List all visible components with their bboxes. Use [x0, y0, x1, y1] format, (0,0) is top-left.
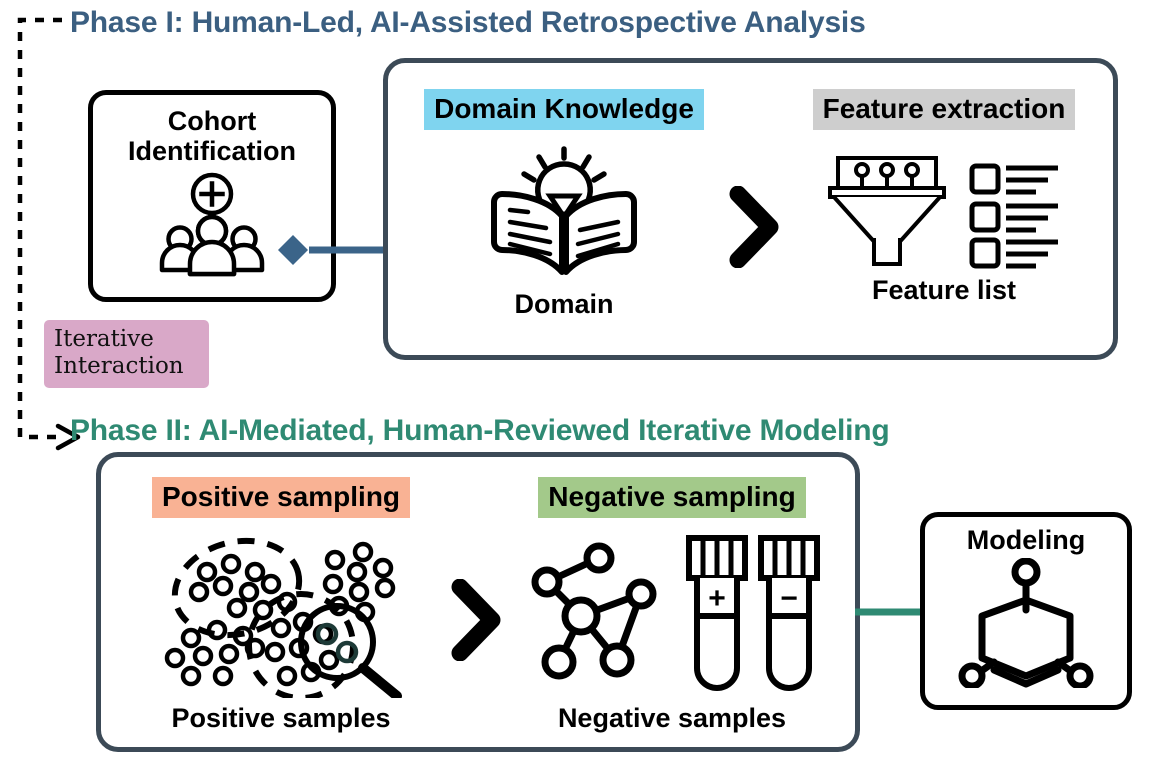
positive-tube-label: +	[708, 582, 726, 615]
positive-samples-caption: Positive samples	[121, 703, 441, 734]
negative-tube-label: −	[780, 582, 798, 615]
modeling-card[interactable]: Modeling	[920, 512, 1132, 710]
positive-sampling-step[interactable]: Positive sampling	[121, 477, 441, 734]
cohort-card-title: Cohort Identification	[93, 107, 331, 166]
diagram-canvas: Phase I: Human-Led, AI-Assisted Retrospe…	[0, 0, 1159, 768]
positive-sampling-chip: Positive sampling	[152, 477, 410, 518]
negative-samples-caption: Negative samples	[507, 703, 837, 734]
open-book-lightbulb-icon	[484, 144, 644, 284]
domain-knowledge-step[interactable]: Domain Knowledge	[414, 89, 714, 320]
iterative-label-line1: Iterative	[54, 326, 199, 353]
phase1-connector-line	[275, 232, 390, 268]
network-test-tubes-icon: + −	[517, 530, 827, 698]
feature-list-caption: Feature list	[794, 275, 1094, 306]
feature-extraction-chip: Feature extraction	[813, 89, 1076, 130]
phase2-chevron-right-icon	[448, 579, 504, 661]
phase2-container: Positive sampling	[96, 452, 860, 752]
people-add-icon	[152, 170, 272, 278]
clustered-dots-magnifier-icon	[151, 530, 411, 698]
phase1-container: Domain Knowledge	[383, 58, 1118, 360]
modeling-card-title: Modeling	[925, 525, 1127, 556]
domain-knowledge-chip: Domain Knowledge	[424, 89, 704, 130]
phase2-title: Phase II: AI-Mediated, Human-Reviewed It…	[70, 414, 890, 448]
cohort-title-line2: Identification	[93, 137, 331, 167]
iterative-interaction-label: Iterative Interaction	[44, 320, 209, 388]
iterative-label-line2: Interaction	[54, 353, 199, 380]
feature-extraction-step[interactable]: Feature extraction	[794, 89, 1094, 306]
domain-caption: Domain	[414, 289, 714, 320]
negative-sampling-chip: Negative sampling	[538, 477, 805, 518]
negative-sampling-step[interactable]: Negative sampling	[507, 477, 837, 734]
cube-network-icon	[948, 558, 1104, 688]
cohort-identification-card[interactable]: Cohort Identification	[88, 90, 336, 302]
funnel-checklist-icon	[824, 152, 1064, 270]
phase1-title: Phase I: Human-Led, AI-Assisted Retrospe…	[70, 6, 866, 40]
phase1-chevron-right-icon	[726, 186, 782, 268]
cohort-title-line1: Cohort	[93, 107, 331, 137]
